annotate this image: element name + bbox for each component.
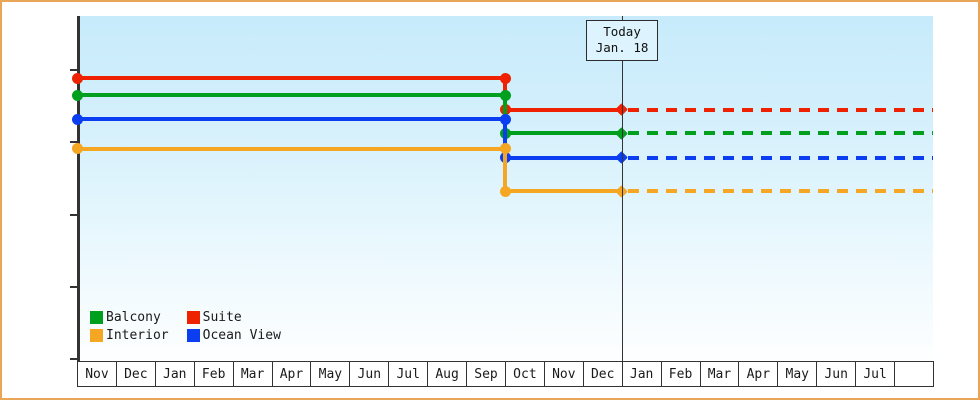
x-axis-month-cell[interactable]: Dec <box>584 362 623 386</box>
x-axis-month-cell[interactable]: Apr <box>739 362 778 386</box>
legend-item[interactable]: Suite <box>187 310 281 325</box>
y-axis-tick-mark <box>70 69 78 71</box>
series-segment-solid <box>77 147 507 151</box>
x-axis-month-cell[interactable]: May <box>778 362 817 386</box>
series-segment-solid <box>503 131 624 135</box>
legend-item[interactable]: Ocean View <box>187 328 281 343</box>
series-segment-solid <box>503 189 624 193</box>
x-axis-month-cell[interactable]: Sep <box>467 362 506 386</box>
x-axis-month-cell[interactable]: Jun <box>817 362 856 386</box>
x-axis-month-cell[interactable]: Aug <box>428 362 467 386</box>
series-point-step-low <box>500 186 511 197</box>
series-point-start <box>72 143 83 154</box>
series-segment-solid <box>503 156 624 160</box>
series-segment-solid <box>77 117 507 121</box>
series-segment-dashed <box>628 156 933 160</box>
x-axis-month-cell[interactable]: Jul <box>389 362 428 386</box>
series-point-start <box>72 73 83 84</box>
y-axis-line <box>77 16 80 361</box>
legend-item-label: Suite <box>203 310 242 325</box>
today-label: Today <box>596 24 649 40</box>
legend-item-label: Ocean View <box>203 328 281 343</box>
x-axis-month-cell[interactable]: Jun <box>350 362 389 386</box>
x-axis-month-cell[interactable]: Mar <box>234 362 273 386</box>
legend-item[interactable]: Balcony <box>90 310 169 325</box>
series-segment-dashed <box>628 108 933 112</box>
y-axis-tick-mark <box>70 214 78 216</box>
chart-frame: $0$250$500$750$1,000 Today Jan. 18 Balco… <box>0 0 980 400</box>
x-axis: NovDecJanFebMarAprMayJunJulAugSepOctNovD… <box>77 361 934 387</box>
x-axis-month-cell[interactable]: Dec <box>117 362 156 386</box>
chart-legend: BalconySuiteInteriorOcean View <box>90 310 281 343</box>
x-axis-month-cell-empty[interactable] <box>895 362 934 386</box>
x-axis-month-cell[interactable]: Oct <box>506 362 545 386</box>
series-point-step-high <box>500 73 511 84</box>
x-axis-month-cell[interactable]: Jul <box>856 362 895 386</box>
series-segment-solid <box>503 108 624 112</box>
x-axis-month-cell[interactable]: Feb <box>662 362 701 386</box>
today-vertical-line <box>622 16 623 361</box>
x-axis-month-cell[interactable]: Jan <box>623 362 662 386</box>
x-axis-month-cell[interactable]: Nov <box>78 362 117 386</box>
series-segment-solid <box>77 93 507 97</box>
legend-color-swatch-icon <box>187 329 200 342</box>
legend-color-swatch-icon <box>187 311 200 324</box>
series-point-start <box>72 114 83 125</box>
series-point-step-high <box>500 90 511 101</box>
series-segment-dashed <box>628 131 933 135</box>
legend-item-label: Interior <box>106 328 169 343</box>
series-point-step-high <box>500 114 511 125</box>
x-axis-month-cell[interactable]: Mar <box>701 362 740 386</box>
today-date: Jan. 18 <box>596 40 649 56</box>
series-segment-solid <box>77 76 507 80</box>
y-axis-tick-mark <box>70 358 78 360</box>
x-axis-month-cell[interactable]: Jan <box>156 362 195 386</box>
x-axis-month-cell[interactable]: May <box>311 362 350 386</box>
series-point-step-high <box>500 143 511 154</box>
legend-color-swatch-icon <box>90 329 103 342</box>
x-axis-month-cell[interactable]: Feb <box>195 362 234 386</box>
legend-item-label: Balcony <box>106 310 161 325</box>
x-axis-month-cell[interactable]: Apr <box>273 362 312 386</box>
y-axis-tick-mark <box>70 286 78 288</box>
x-axis-month-cell[interactable]: Nov <box>545 362 584 386</box>
legend-color-swatch-icon <box>90 311 103 324</box>
series-segment-dashed <box>628 189 933 193</box>
today-annotation-box: Today Jan. 18 <box>586 20 659 61</box>
series-point-start <box>72 90 83 101</box>
legend-item[interactable]: Interior <box>90 328 169 343</box>
series-step-riser <box>503 149 507 191</box>
